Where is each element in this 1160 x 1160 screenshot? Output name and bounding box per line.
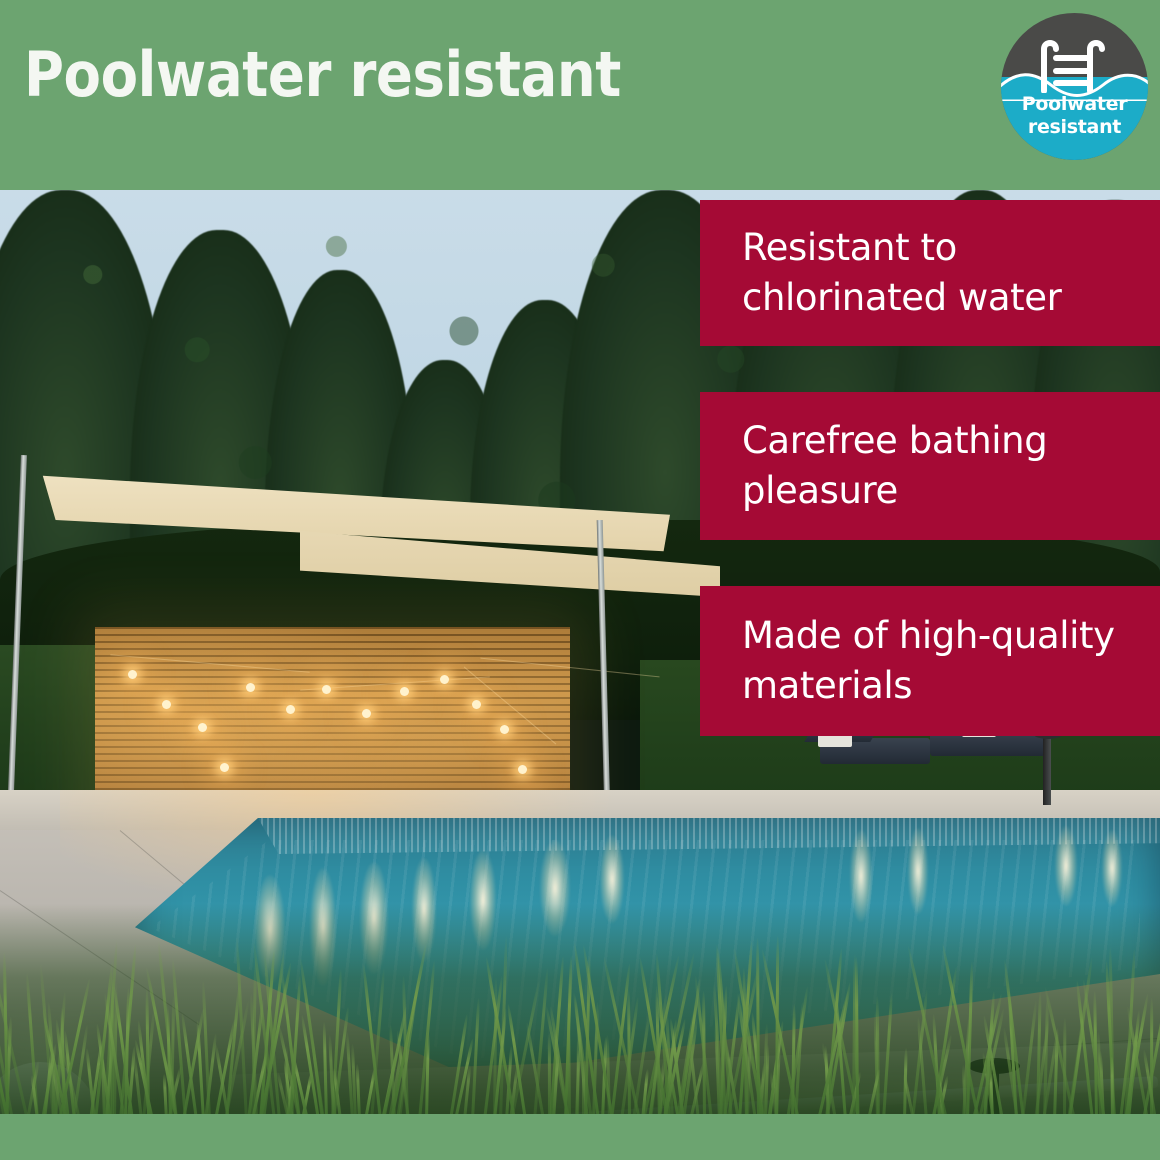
callout-high-quality-materials: Made of high-quality materials bbox=[700, 586, 1160, 736]
callout-text-1: Resistant to chlorinated water bbox=[700, 223, 1160, 323]
badge-label: Poolwater resistant bbox=[1001, 93, 1148, 139]
pool-ladder-icon bbox=[1034, 33, 1116, 93]
background-bollard-a bbox=[1043, 735, 1051, 805]
callout-carefree-bathing-pleasure: Carefree bathing pleasure bbox=[700, 392, 1160, 540]
badge-label-line2: resistant bbox=[1001, 116, 1148, 139]
footer-bar bbox=[0, 1114, 1160, 1160]
callout-text-2: Carefree bathing pleasure bbox=[700, 416, 1160, 516]
callout-resistant-chlorinated-water: Resistant to chlorinated water bbox=[700, 200, 1160, 346]
callout-text-3: Made of high-quality materials bbox=[700, 611, 1160, 711]
foreground-grass bbox=[0, 904, 1160, 1114]
badge-label-line1: Poolwater bbox=[1001, 93, 1148, 116]
page-title: Poolwater resistant bbox=[24, 40, 621, 110]
header-bar: Poolwater resistant bbox=[0, 0, 1160, 190]
poolwater-resistant-badge: Poolwater resistant bbox=[1001, 13, 1148, 160]
promo-banner: Poolwater resistant Poolwater resistant … bbox=[0, 0, 1160, 1160]
